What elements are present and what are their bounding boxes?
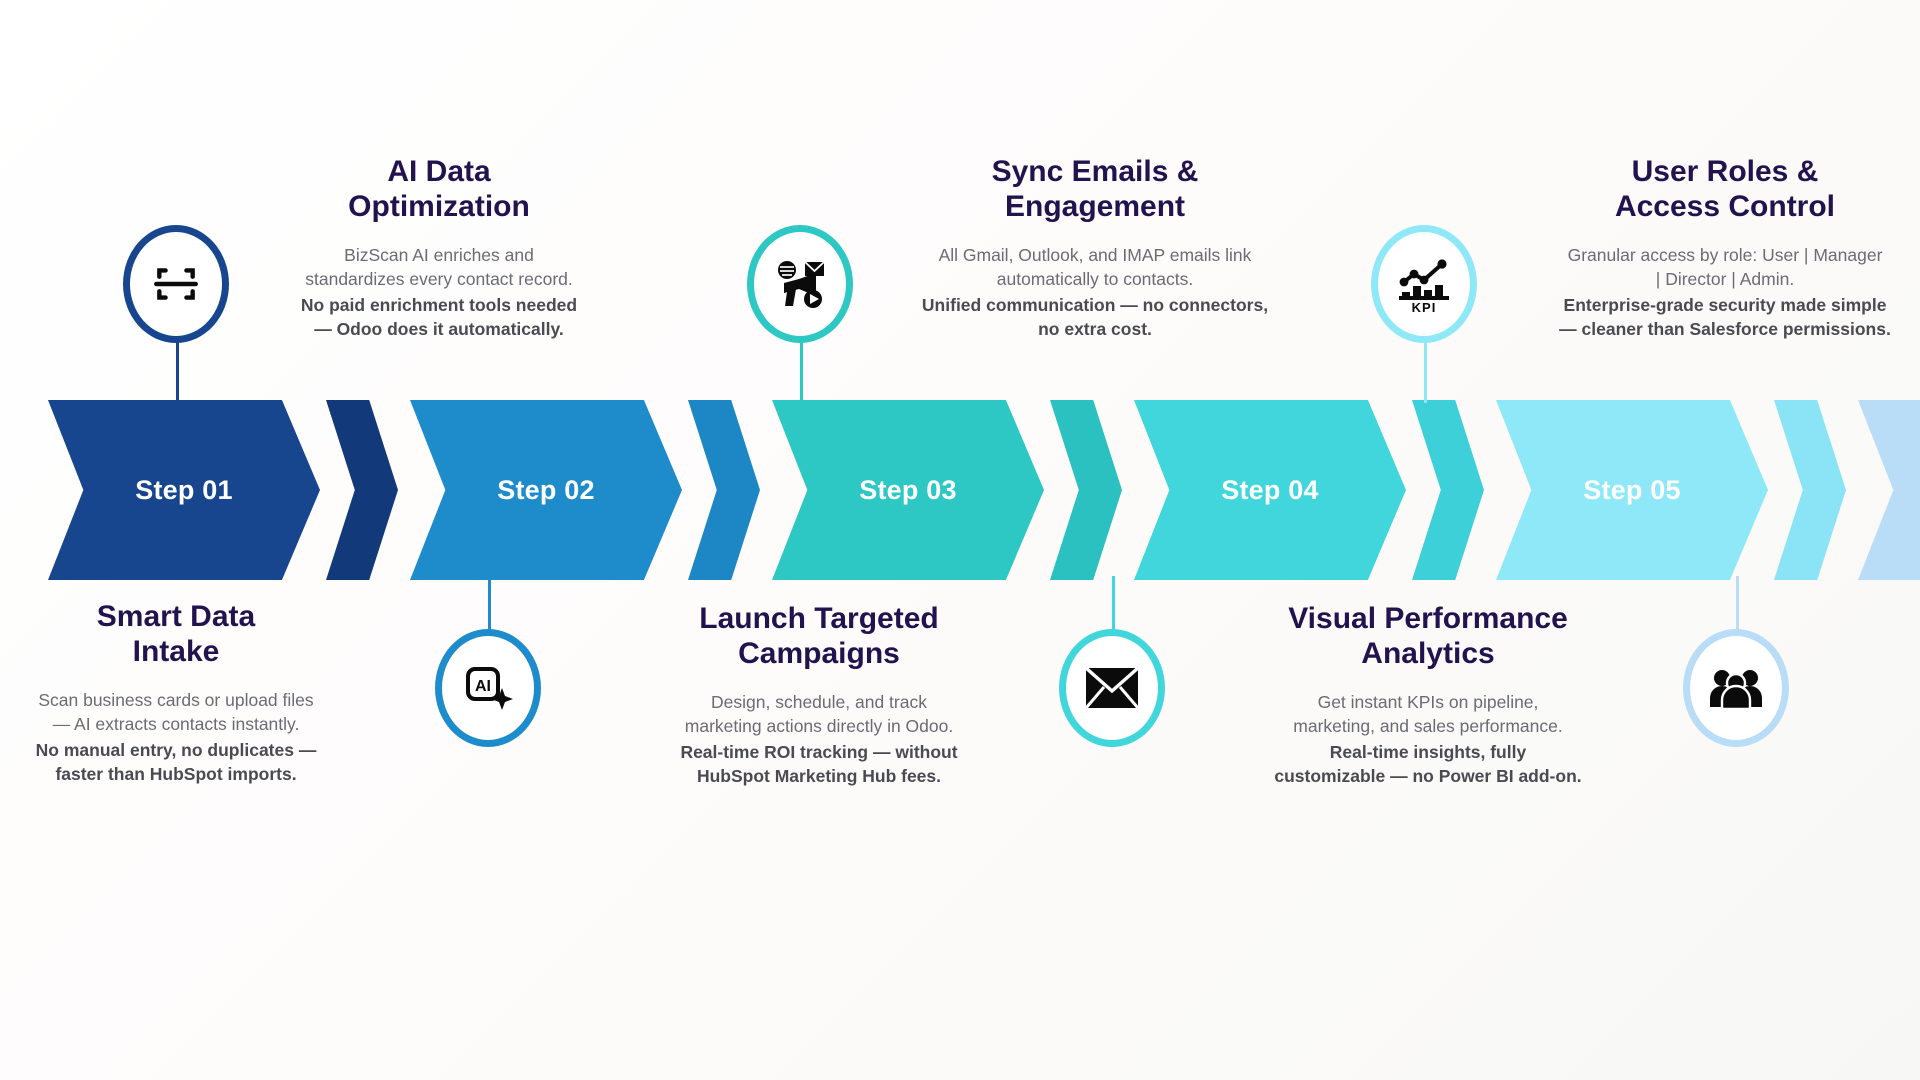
text-block-step-5: Visual Performance Analytics Get instant… <box>1228 602 1628 788</box>
step-desc-4: All Gmail, Outlook, and IMAP emails link… <box>895 243 1295 291</box>
chevron-gap-2 <box>760 400 772 580</box>
badge-step-6[interactable] <box>1690 636 1782 740</box>
step-title-5: Visual Performance Analytics <box>1228 602 1628 672</box>
infographic-canvas: Step 01 Step 02 Step 03 Step 04 Step 05 … <box>0 0 1920 1080</box>
people-group-icon <box>1708 667 1764 709</box>
campaign-megaphone-icon <box>772 256 828 312</box>
step-highlight-5: Real-time insights, fully customizable —… <box>1228 740 1628 788</box>
scan-frame-icon <box>151 259 201 309</box>
chevron-step-5[interactable]: Step 05 <box>1496 400 1768 580</box>
step-desc-6: Granular access by role: User | Manager … <box>1518 243 1920 291</box>
step-label-5: Step 05 <box>1583 475 1680 506</box>
envelope-icon <box>1085 667 1139 709</box>
chevron-gap-5 <box>1846 400 1858 580</box>
badge-step-4[interactable] <box>1066 636 1158 740</box>
svg-text:KPI: KPI <box>1412 300 1437 312</box>
chevron-separator-3 <box>1050 400 1122 580</box>
ai-sparkle-icon: AI <box>462 662 514 714</box>
chevron-step-1[interactable]: Step 01 <box>48 400 320 580</box>
chevron-step-3[interactable]: Step 03 <box>772 400 1044 580</box>
step-highlight-1: No manual entry, no duplicates — faster … <box>0 738 357 786</box>
chevron-separator-1 <box>326 400 398 580</box>
step-desc-2: BizScan AI enriches and standardizes eve… <box>258 243 620 291</box>
chevron-gap-1 <box>398 400 410 580</box>
step-desc-1: Scan business cards or upload files — AI… <box>0 688 357 736</box>
kpi-chart-icon: KPI <box>1396 256 1452 312</box>
step-highlight-3: Real-time ROI tracking — without HubSpot… <box>638 740 1000 788</box>
badge-step-3[interactable] <box>754 232 846 336</box>
chevron-step-6[interactable]: Step 06 <box>1858 400 1920 580</box>
step-highlight-2: No paid enrichment tools needed — Odoo d… <box>258 293 620 341</box>
step-chevron-band: Step 01 Step 02 Step 03 Step 04 Step 05 … <box>48 400 1920 580</box>
chevron-separator-2 <box>688 400 760 580</box>
step-highlight-4: Unified communication — no connectors, n… <box>895 293 1295 341</box>
chevron-step-4[interactable]: Step 04 <box>1134 400 1406 580</box>
connector-line-6 <box>1736 576 1739 636</box>
step-desc-5: Get instant KPIs on pipeline, marketing,… <box>1228 690 1628 738</box>
step-title-2: AI Data Optimization <box>258 155 620 225</box>
badge-step-1[interactable] <box>130 232 222 336</box>
svg-text:AI: AI <box>475 678 491 695</box>
step-label-4: Step 04 <box>1221 475 1318 506</box>
text-block-step-3: Launch Targeted Campaigns Design, schedu… <box>638 602 1000 788</box>
step-highlight-6: Enterprise-grade security made simple — … <box>1518 293 1920 341</box>
step-title-3: Launch Targeted Campaigns <box>638 602 1000 672</box>
step-label-1: Step 01 <box>135 475 232 506</box>
step-title-6: User Roles & Access Control <box>1518 155 1920 225</box>
text-block-step-6: User Roles & Access Control Granular acc… <box>1518 155 1920 341</box>
chevron-separator-4 <box>1412 400 1484 580</box>
connector-line-4 <box>1112 576 1115 636</box>
step-title-1: Smart Data Intake <box>0 600 357 670</box>
step-desc-3: Design, schedule, and track marketing ac… <box>638 690 1000 738</box>
chevron-gap-4 <box>1484 400 1496 580</box>
badge-step-5[interactable]: KPI <box>1378 232 1470 336</box>
text-block-step-4: Sync Emails & Engagement All Gmail, Outl… <box>895 155 1295 341</box>
chevron-step-2[interactable]: Step 02 <box>410 400 682 580</box>
step-title-4: Sync Emails & Engagement <box>895 155 1295 225</box>
step-label-2: Step 02 <box>497 475 594 506</box>
text-block-step-2: AI Data Optimization BizScan AI enriches… <box>258 155 620 341</box>
connector-line-2 <box>488 576 491 636</box>
text-block-step-1: Smart Data Intake Scan business cards or… <box>0 600 357 786</box>
badge-step-2[interactable]: AI <box>442 636 534 740</box>
step-label-3: Step 03 <box>859 475 956 506</box>
chevron-gap-3 <box>1122 400 1134 580</box>
chevron-separator-5 <box>1774 400 1846 580</box>
